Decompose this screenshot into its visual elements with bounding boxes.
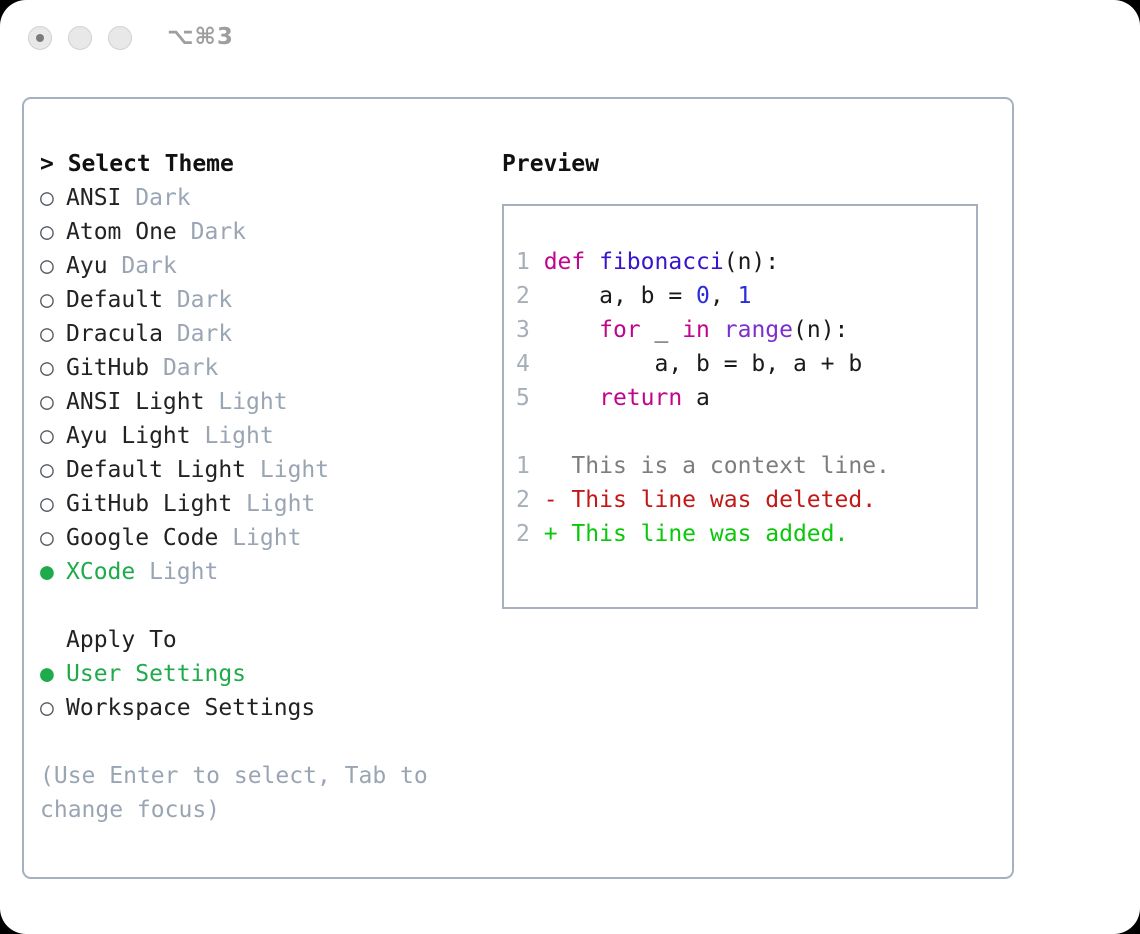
code-token [585, 249, 599, 275]
code-spacer [516, 415, 970, 449]
theme-list-item[interactable]: XCode Light [40, 555, 480, 589]
code-token: 0 [696, 283, 710, 309]
diff-line-text: - This line was deleted. [544, 487, 876, 513]
line-number: 1 [516, 453, 544, 479]
apply-to-header-label: Apply To [66, 627, 177, 653]
line-number: 2 [516, 283, 544, 309]
theme-variant-badge: Light [204, 423, 273, 449]
theme-list-item[interactable]: Atom One Dark [40, 215, 480, 249]
theme-picker-panel: > Select Theme ANSI DarkAtom One DarkAyu… [22, 97, 1014, 879]
code-line: 3 for _ in range(n): [516, 313, 970, 347]
preview-column: Preview 1 def fibonacci(n):2 a, b = 0, 1… [502, 147, 1002, 609]
title-bar: ⌥⌘3 [0, 0, 1140, 78]
theme-list-item[interactable]: Google Code Light [40, 521, 480, 555]
theme-name: Dracula [66, 321, 163, 347]
theme-list-item[interactable]: GitHub Light Light [40, 487, 480, 521]
radio-unselected-icon[interactable] [40, 215, 66, 249]
code-token: (n): [793, 317, 848, 343]
preview-title: Preview [502, 147, 1002, 181]
diff-line-text: This is a context line. [544, 453, 890, 479]
line-number: 1 [516, 249, 544, 275]
apply-to-option[interactable]: User Settings [40, 657, 480, 691]
theme-name: Default Light [66, 457, 246, 483]
theme-list-item[interactable]: Default Light Light [40, 453, 480, 487]
code-token [710, 317, 724, 343]
theme-list-item[interactable]: Default Dark [40, 283, 480, 317]
line-number: 2 [516, 521, 544, 547]
code-token: for [599, 317, 641, 343]
code-line: 1 def fibonacci(n): [516, 245, 970, 279]
apply-to-option-label: User Settings [66, 661, 246, 687]
theme-variant-badge: Dark [191, 219, 246, 245]
radio-unselected-icon[interactable] [40, 317, 66, 351]
code-token: fibonacci [599, 249, 724, 275]
theme-variant-badge: Dark [177, 287, 232, 313]
theme-name: ANSI [66, 185, 121, 211]
code-token: in [682, 317, 710, 343]
apply-to-option-label: Workspace Settings [66, 695, 315, 721]
code-token: , [710, 283, 738, 309]
theme-name: XCode [66, 559, 135, 585]
line-number: 4 [516, 351, 544, 377]
code-token: a, b = b, a + b [544, 351, 863, 377]
theme-list-item[interactable]: Dracula Dark [40, 317, 480, 351]
code-token: range [724, 317, 793, 343]
diff-line: 1 This is a context line. [516, 449, 970, 483]
theme-variant-badge: Light [218, 389, 287, 415]
code-line: 4 a, b = b, a + b [516, 347, 970, 381]
line-number: 5 [516, 385, 544, 411]
code-token: 1 [738, 283, 752, 309]
radio-unselected-icon[interactable] [40, 351, 66, 385]
diff-line: 2 - This line was deleted. [516, 483, 970, 517]
code-token [544, 317, 599, 343]
code-preview-area: 1 def fibonacci(n):2 a, b = 0, 13 for _ … [516, 245, 970, 551]
window-maximize-dot[interactable] [108, 26, 132, 50]
keyboard-shortcut-label: ⌥⌘3 [167, 24, 234, 50]
select-theme-header: > Select Theme [40, 147, 480, 181]
radio-unselected-icon[interactable] [40, 419, 66, 453]
radio-unselected-icon[interactable] [40, 283, 66, 317]
code-token: _ [641, 317, 683, 343]
code-token: def [544, 249, 586, 275]
line-number: 2 [516, 487, 544, 513]
theme-variant-badge: Light [149, 559, 218, 585]
radio-unselected-icon[interactable] [40, 521, 66, 555]
radio-unselected-icon[interactable] [40, 453, 66, 487]
apply-to-header: Apply To [40, 623, 480, 657]
theme-list-item[interactable]: ANSI Light Light [40, 385, 480, 419]
theme-name: Atom One [66, 219, 177, 245]
keyboard-hint-text: (Use Enter to select, Tab to change focu… [40, 759, 440, 827]
theme-variant-badge: Dark [163, 355, 218, 381]
window-minimize-dot[interactable] [68, 26, 92, 50]
theme-variant-badge: Light [232, 525, 301, 551]
code-sample: 1 def fibonacci(n):2 a, b = 0, 13 for _ … [516, 245, 970, 415]
code-token: (n): [724, 249, 779, 275]
line-number: 3 [516, 317, 544, 343]
theme-list-item[interactable]: GitHub Dark [40, 351, 480, 385]
theme-variant-badge: Dark [121, 253, 176, 279]
radio-unselected-icon[interactable] [40, 181, 66, 215]
theme-variant-badge: Dark [135, 185, 190, 211]
radio-selected-icon[interactable] [40, 555, 66, 589]
theme-name: GitHub [66, 355, 149, 381]
code-token: return [599, 385, 682, 411]
code-token: a [682, 385, 710, 411]
theme-name: GitHub Light [66, 491, 232, 517]
theme-name: Google Code [66, 525, 218, 551]
theme-list-item[interactable]: Ayu Light Light [40, 419, 480, 453]
theme-variant-badge: Light [260, 457, 329, 483]
code-token [544, 385, 599, 411]
diff-line-text: + This line was added. [544, 521, 849, 547]
code-token: a, b = [544, 283, 696, 309]
theme-list-item[interactable]: ANSI Dark [40, 181, 480, 215]
apply-to-list: User SettingsWorkspace Settings [40, 657, 480, 725]
radio-unselected-icon[interactable] [40, 691, 66, 725]
theme-name: ANSI Light [66, 389, 204, 415]
radio-unselected-icon[interactable] [40, 487, 66, 521]
code-line: 5 return a [516, 381, 970, 415]
code-line: 2 a, b = 0, 1 [516, 279, 970, 313]
theme-variant-badge: Dark [177, 321, 232, 347]
radio-unselected-icon[interactable] [40, 385, 66, 419]
radio-selected-icon[interactable] [40, 657, 66, 691]
window-close-dot-inner [36, 34, 44, 42]
theme-list-item[interactable]: Ayu Dark [40, 249, 480, 283]
diff-line: 2 + This line was added. [516, 517, 970, 551]
diff-sample: 1 This is a context line.2 - This line w… [516, 449, 970, 551]
theme-name: Ayu [66, 253, 108, 279]
preview-box: 1 def fibonacci(n):2 a, b = 0, 13 for _ … [502, 204, 978, 609]
apply-to-option[interactable]: Workspace Settings [40, 691, 480, 725]
theme-name: Ayu Light [66, 423, 191, 449]
theme-selection-column: > Select Theme ANSI DarkAtom One DarkAyu… [40, 147, 480, 827]
theme-name: Default [66, 287, 163, 313]
radio-unselected-icon[interactable] [40, 249, 66, 283]
theme-variant-badge: Light [246, 491, 315, 517]
app-window: ⌥⌘3 > Select Theme ANSI DarkAtom One Dar… [0, 0, 1140, 934]
theme-list: ANSI DarkAtom One DarkAyu DarkDefault Da… [40, 181, 480, 589]
